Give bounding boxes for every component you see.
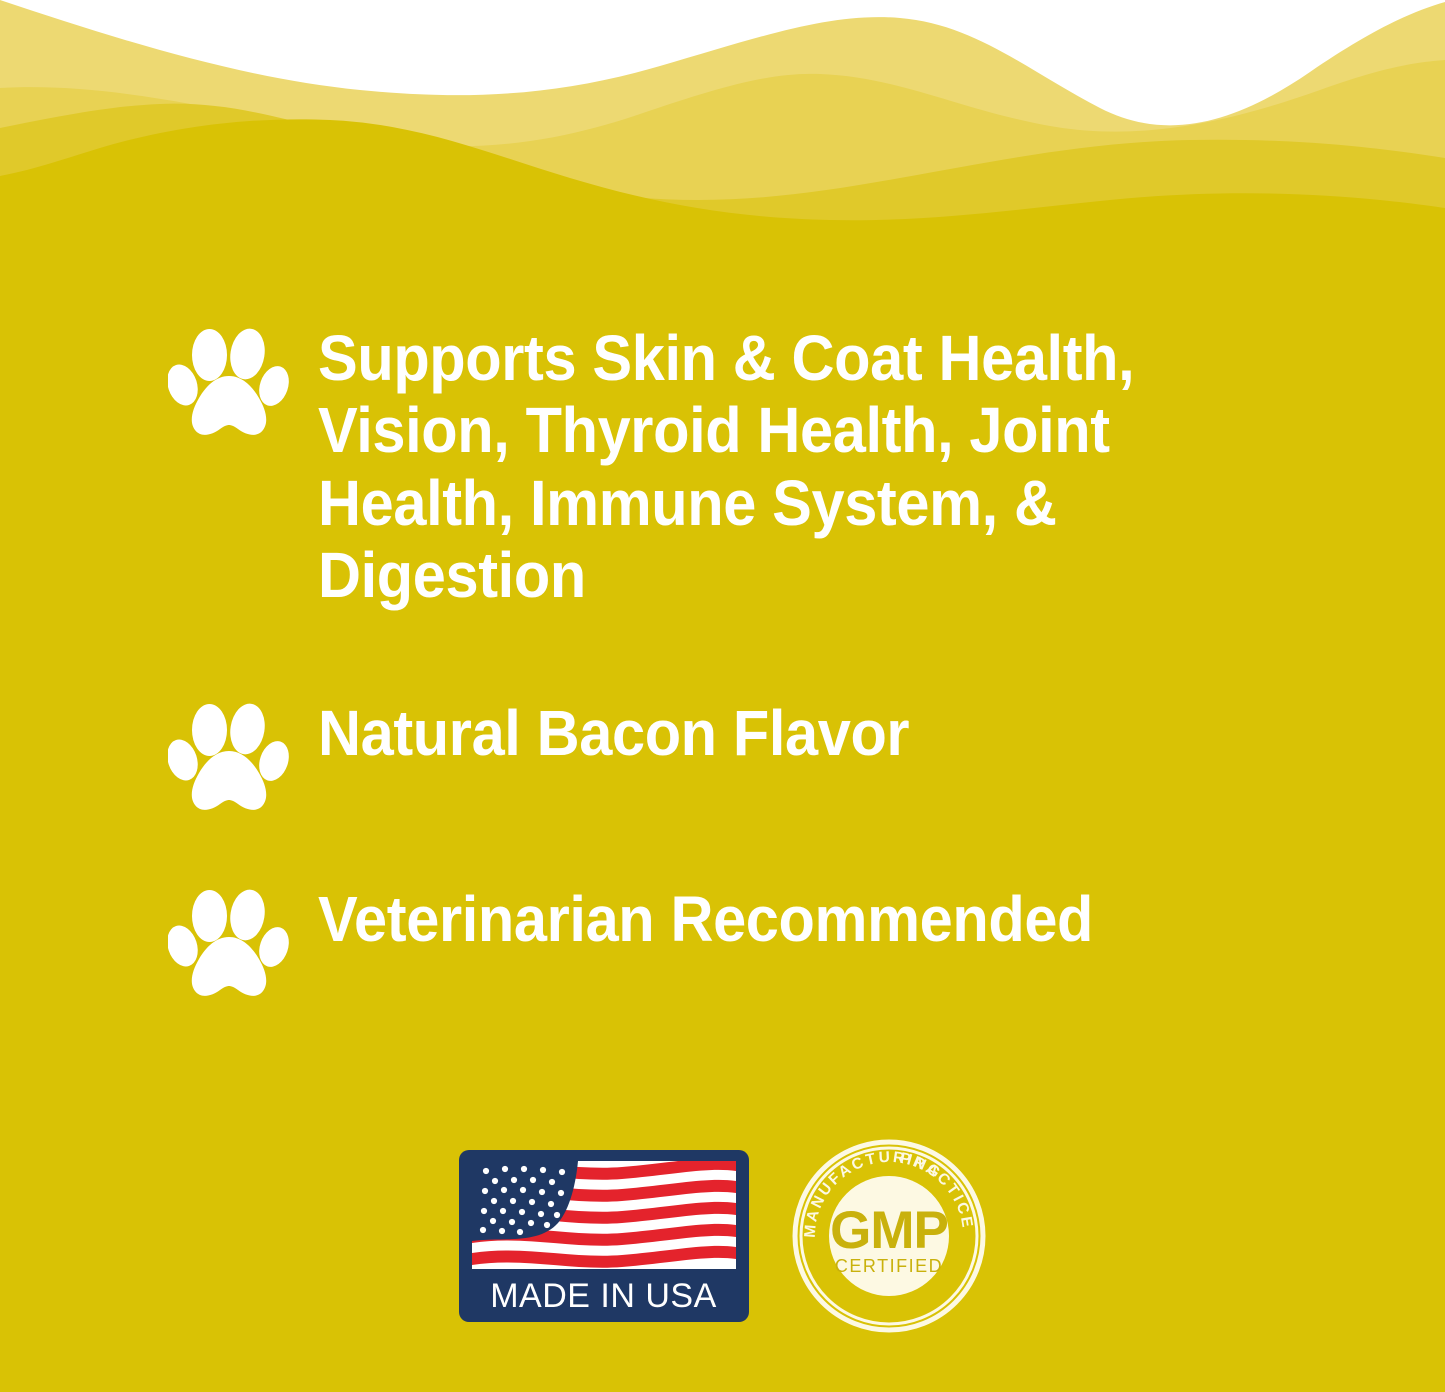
us-flag-icon [472, 1161, 736, 1269]
gmp-certified-label: CERTIFIED [834, 1256, 942, 1276]
bullet-spacer [168, 611, 1328, 697]
list-item-label: Supports Skin & Coat Health, Vision, Thy… [318, 322, 1257, 611]
list-item-label: Veterinarian Recommended [318, 883, 1257, 955]
feature-panel: Supports Skin & Coat Health, Vision, Thy… [0, 0, 1445, 1392]
bullet-spacer [168, 815, 1328, 883]
list-item: Supports Skin & Coat Health, Vision, Thy… [168, 322, 1328, 611]
paw-print-icon [168, 703, 290, 815]
gmp-acronym-label: GMP [830, 1201, 948, 1260]
paw-print-icon [168, 328, 290, 440]
list-item: Veterinarian Recommended [168, 883, 1328, 1001]
paw-print-icon [168, 889, 290, 1001]
list-item-label: Natural Bacon Flavor [318, 697, 1257, 769]
gmp-seal-icon: GOOD MANUFACTURING PRACTICE GMP CERTIFIE… [791, 1138, 987, 1334]
made-in-usa-badge: MADE IN USA [459, 1150, 749, 1322]
list-item: Natural Bacon Flavor [168, 697, 1328, 815]
made-in-usa-label: MADE IN USA [490, 1279, 717, 1313]
certification-badges: MADE IN USA GOOD MANUFACTURING PRACT [0, 1138, 1445, 1334]
feature-bullet-list: Supports Skin & Coat Health, Vision, Thy… [168, 322, 1328, 1001]
